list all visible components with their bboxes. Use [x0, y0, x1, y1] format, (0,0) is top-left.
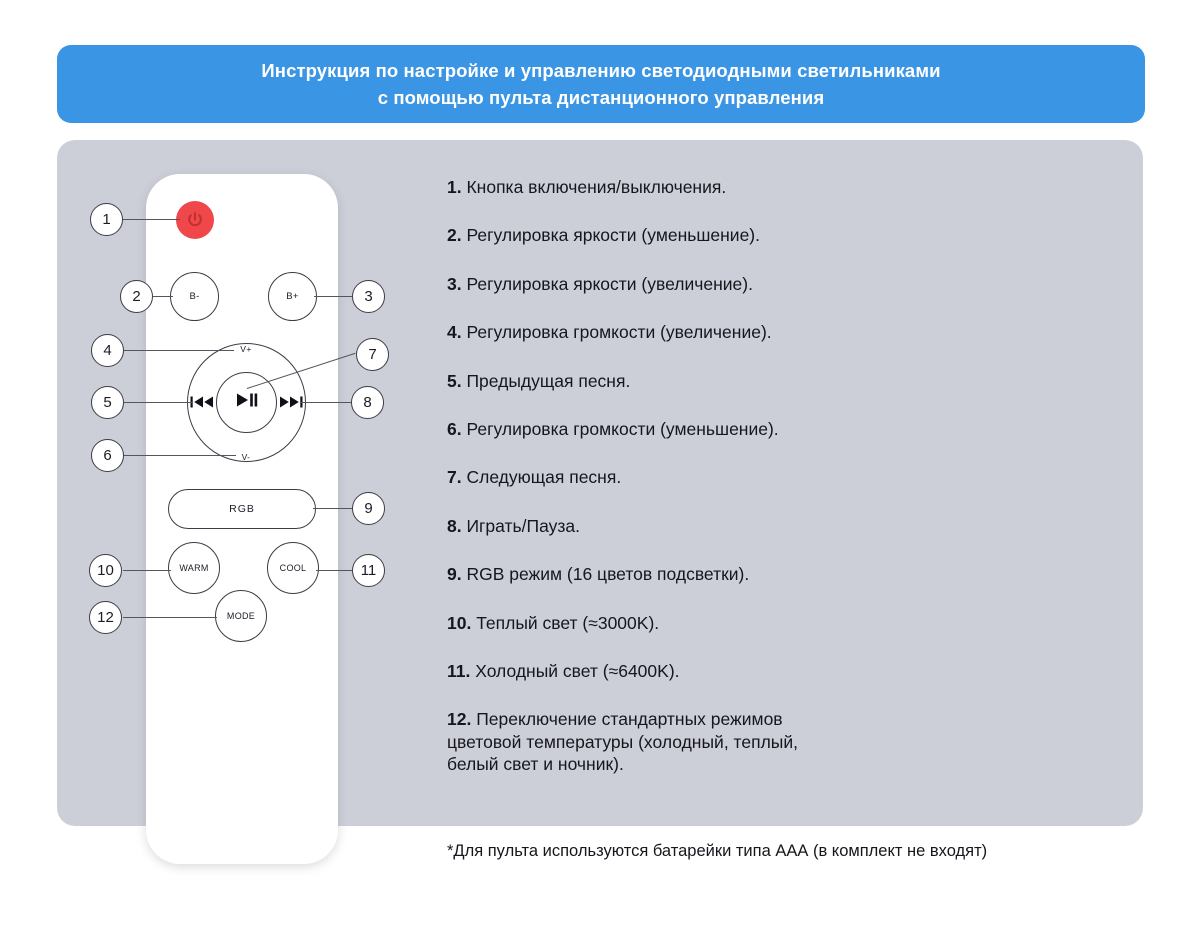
header-banner: Инструкция по настройке и управлению све…: [57, 45, 1145, 123]
legend-number: 9.: [447, 564, 462, 584]
legend-text: Регулировка громкости (увеличение).: [462, 322, 772, 342]
legend-item-2: 2. Регулировка яркости (уменьшение).: [447, 224, 967, 246]
header-title-line-1: Инструкция по настройке и управлению све…: [261, 59, 940, 82]
power-icon: [185, 210, 205, 230]
leader-line-11: [316, 570, 352, 571]
leader-line-3: [314, 296, 352, 297]
legend-text: RGB режим (16 цветов подсветки).: [462, 564, 750, 584]
volume-up-label[interactable]: V+: [231, 344, 261, 354]
legend-number: 3.: [447, 274, 462, 294]
callout-6[interactable]: 6: [91, 439, 124, 472]
legend-item-10: 10. Теплый свет (≈3000K).: [447, 612, 967, 634]
leader-line-5: [124, 402, 192, 403]
legend-number: 6.: [447, 419, 462, 439]
legend-text: Регулировка яркости (увеличение).: [462, 274, 753, 294]
volume-down-label[interactable]: V-: [231, 452, 261, 462]
legend-text: Холодный свет (≈6400K).: [470, 661, 679, 681]
legend-item-5: 5. Предыдущая песня.: [447, 370, 967, 392]
leader-line-8: [301, 402, 351, 403]
callout-10[interactable]: 10: [89, 554, 122, 587]
legend-item-6: 6. Регулировка громкости (уменьшение).: [447, 418, 967, 440]
legend-number: 11.: [447, 661, 470, 681]
header-title-line-2: с помощью пульта дистанционного управлен…: [378, 86, 825, 109]
instruction-page: Инструкция по настройке и управлению све…: [0, 0, 1200, 933]
leader-line-6: [124, 455, 236, 456]
rgb-button[interactable]: RGB: [168, 489, 316, 529]
legend-number: 2.: [447, 225, 462, 245]
legend-number: 8.: [447, 516, 462, 536]
legend-item-8: 8. Играть/Пауза.: [447, 515, 967, 537]
previous-track-icon[interactable]: [189, 393, 215, 411]
callout-12[interactable]: 12: [89, 601, 122, 634]
legend-item-7: 7. Следующая песня.: [447, 466, 967, 488]
legend-item-11: 11. Холодный свет (≈6400K).: [447, 660, 967, 682]
legend-list: 1. Кнопка включения/выключения. 2. Регул…: [447, 176, 967, 775]
warm-button[interactable]: WARM: [168, 542, 220, 594]
legend-text: Следующая песня.: [462, 467, 622, 487]
callout-7[interactable]: 7: [356, 338, 389, 371]
legend-text: Предыдущая песня.: [462, 371, 631, 391]
legend-number: 1.: [447, 177, 462, 197]
brightness-down-button[interactable]: B-: [170, 272, 219, 321]
legend-text: Переключение стандартных режимов цветово…: [447, 709, 798, 774]
play-pause-icon: [234, 392, 260, 413]
legend-number: 12.: [447, 709, 471, 729]
footnote: *Для пульта используются батарейки типа …: [447, 842, 987, 861]
leader-line-12: [123, 617, 217, 618]
legend-number: 5.: [447, 371, 462, 391]
leader-line-4: [124, 350, 234, 351]
legend-item-9: 9. RGB режим (16 цветов подсветки).: [447, 563, 967, 585]
legend-item-1: 1. Кнопка включения/выключения.: [447, 176, 967, 198]
legend-number: 7.: [447, 467, 462, 487]
legend-text: Регулировка громкости (уменьшение).: [462, 419, 779, 439]
callout-11[interactable]: 11: [352, 554, 385, 587]
leader-line-9: [313, 508, 352, 509]
callout-5[interactable]: 5: [91, 386, 124, 419]
legend-text: Теплый свет (≈3000K).: [471, 613, 659, 633]
legend-item-4: 4. Регулировка громкости (увеличение).: [447, 321, 967, 343]
leader-line-10: [123, 570, 171, 571]
cool-button[interactable]: COOL: [267, 542, 319, 594]
mode-button[interactable]: MODE: [215, 590, 267, 642]
leader-line-1: [123, 219, 180, 220]
legend-text: Кнопка включения/выключения.: [462, 177, 727, 197]
callout-4[interactable]: 4: [91, 334, 124, 367]
legend-number: 10.: [447, 613, 471, 633]
power-button[interactable]: [176, 201, 214, 239]
leader-line-2: [153, 296, 173, 297]
callout-3[interactable]: 3: [352, 280, 385, 313]
legend-number: 4.: [447, 322, 462, 342]
legend-item-3: 3. Регулировка яркости (увеличение).: [447, 273, 967, 295]
callout-1[interactable]: 1: [90, 203, 123, 236]
callout-2[interactable]: 2: [120, 280, 153, 313]
legend-text: Играть/Пауза.: [462, 516, 580, 536]
callout-8[interactable]: 8: [351, 386, 384, 419]
legend-item-12: 12. Переключение стандартных режимов цве…: [447, 708, 967, 775]
brightness-up-button[interactable]: B+: [268, 272, 317, 321]
legend-text: Регулировка яркости (уменьшение).: [462, 225, 760, 245]
callout-9[interactable]: 9: [352, 492, 385, 525]
